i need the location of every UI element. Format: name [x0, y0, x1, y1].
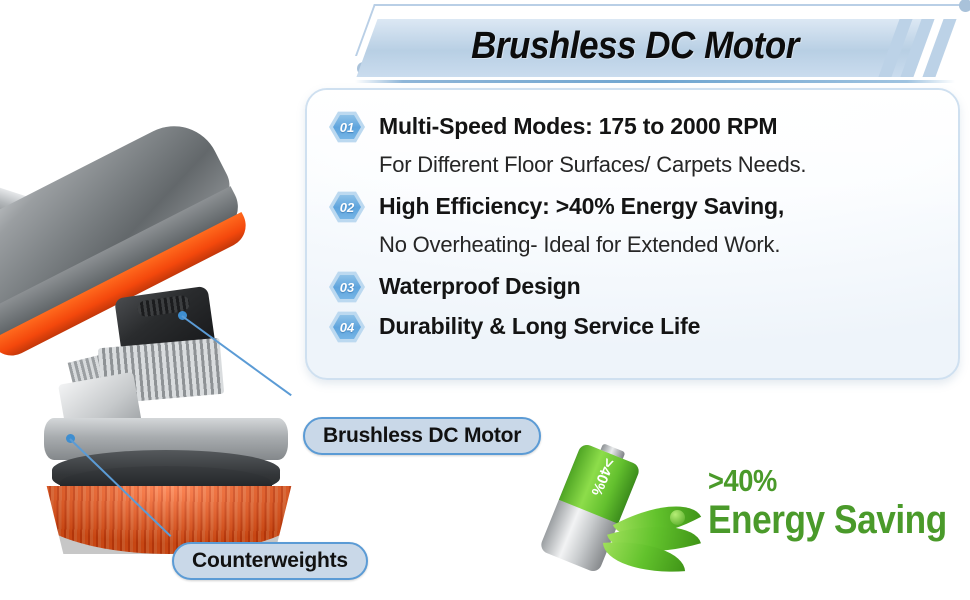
- feature-number: 03: [329, 271, 365, 303]
- feature-panel: 01 Multi-Speed Modes: 175 to 2000 RPM Fo…: [305, 88, 960, 380]
- feature-heading: Durability & Long Service Life: [379, 306, 700, 346]
- feature-heading: Multi-Speed Modes: 175 to 2000 RPM: [379, 106, 777, 146]
- hexagon-badge-icon: 01: [329, 111, 365, 143]
- feature-number: 02: [329, 191, 365, 223]
- feature-item-04: 04 Durability & Long Service Life: [329, 306, 938, 346]
- feature-heading: Waterproof Design: [379, 266, 580, 306]
- banner-dot-right-icon: [959, 0, 970, 12]
- hexagon-badge-icon: 03: [329, 271, 365, 303]
- hexagon-badge-icon: 02: [329, 191, 365, 223]
- feature-list: 01 Multi-Speed Modes: 175 to 2000 RPM Fo…: [307, 90, 958, 346]
- callout-label: Brushless DC Motor: [323, 424, 521, 448]
- hexagon-badge-icon: 04: [329, 311, 365, 343]
- feature-number: 01: [329, 111, 365, 143]
- title-banner: Brushless DC Motor: [355, 4, 967, 86]
- feature-heading: High Efficiency: >40% Energy Saving,: [379, 186, 784, 226]
- banner-stripes-decor: [883, 19, 970, 77]
- feature-item-02: 02 High Efficiency: >40% Energy Saving,: [329, 186, 938, 226]
- energy-saving-graphic: >40% >40% Energy Saving: [548, 440, 970, 570]
- feature-number: 04: [329, 311, 365, 343]
- leaf-dot-icon: [670, 510, 685, 525]
- callout-label: Counterweights: [192, 549, 348, 573]
- feature-subtext: No Overheating- Ideal for Extended Work.: [379, 226, 938, 264]
- energy-saving-label: Energy Saving: [708, 498, 947, 542]
- leaf-icon: [600, 498, 712, 576]
- callout-counterweights: Counterweights: [172, 542, 368, 580]
- energy-text-block: >40% Energy Saving: [708, 464, 970, 542]
- feature-subtext: For Different Floor Surfaces/ Carpets Ne…: [379, 146, 938, 184]
- page-title: Brushless DC Motor: [377, 17, 892, 75]
- callout-brushless-dc-motor: Brushless DC Motor: [303, 417, 541, 455]
- banner-underline: [355, 80, 955, 83]
- energy-percent: >40%: [708, 464, 947, 498]
- feature-item-01: 01 Multi-Speed Modes: 175 to 2000 RPM: [329, 106, 938, 146]
- feature-item-03: 03 Waterproof Design: [329, 266, 938, 306]
